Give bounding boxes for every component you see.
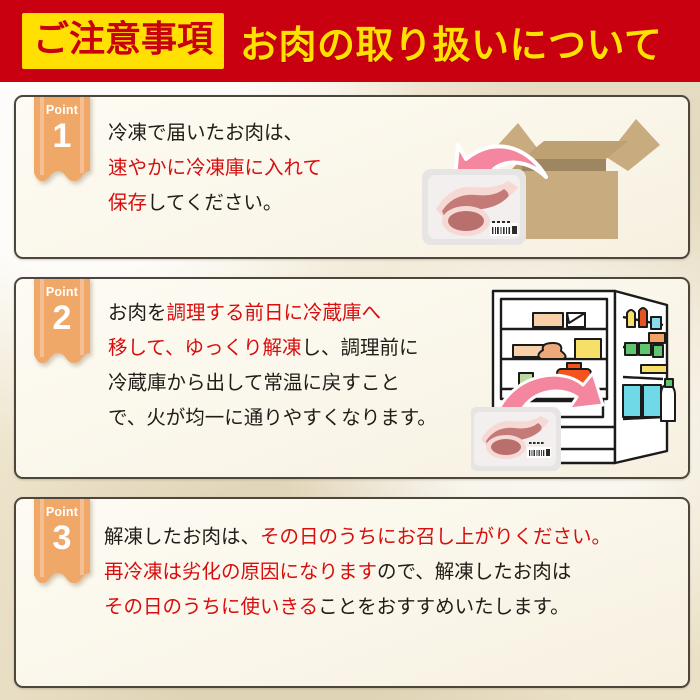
caution-badge: ご注意事項	[22, 13, 224, 69]
text-run: その日のうちにお召し上がりください。	[260, 525, 611, 548]
illustration-box-and-meat	[414, 105, 690, 255]
text-run: 保存	[108, 191, 147, 214]
meat-tray-icon	[422, 169, 526, 245]
text-run: 調理する前日に冷蔵庫へ	[167, 301, 382, 324]
meat-tray-icon	[471, 407, 561, 471]
text-run: 移して、ゆっくり解凍	[108, 336, 301, 359]
text-run: ので、解凍したお肉は	[377, 560, 571, 583]
point-3-text: 解凍したお肉は、その日のうちにお召し上がりください。 再冷凍は劣化の原因になりま…	[104, 519, 611, 624]
text-run: お肉を	[108, 301, 167, 324]
text-run: 冷凍で届いたお肉は、	[108, 121, 303, 144]
ribbon-shape-icon	[34, 497, 90, 589]
ribbon-shape-icon	[34, 277, 90, 369]
point-ribbon-2: Point 2	[34, 277, 90, 369]
point-ribbon-3: Point 3	[34, 497, 90, 589]
text-run: で、火が均一に通りやすくなります。	[108, 406, 437, 429]
text-run: その日のうちに使いきる	[104, 595, 318, 618]
text-run: 再冷凍は劣化の原因になります	[104, 560, 377, 583]
text-run: 冷蔵庫から出して常温に戻すこと	[108, 371, 400, 394]
text-run: してください。	[147, 191, 282, 214]
ribbon-shape-icon	[34, 95, 90, 187]
point-ribbon-1: Point 1	[34, 95, 90, 187]
page-title: お肉の取り扱いについて	[240, 14, 662, 69]
point-2-text: お肉を調理する前日に冷蔵庫へ 移して、ゆっくり解凍し、調理前に 冷蔵庫から出して…	[108, 295, 437, 435]
text-run: し、調理前に	[301, 336, 418, 359]
header-banner: ご注意事項 お肉の取り扱いについて	[0, 0, 700, 82]
point-card-1: Point 1 冷凍で届いたお肉は、 速やかに冷凍庫に入れて 保存してください。	[14, 95, 690, 259]
text-run: ことをおすすめいたします。	[318, 595, 570, 618]
illustration-refrigerator-and-meat	[471, 281, 690, 477]
infographic-page: ご注意事項 お肉の取り扱いについて Point 1 冷凍で届いたお肉は、 速やか…	[0, 0, 700, 700]
point-1-text: 冷凍で届いたお肉は、 速やかに冷凍庫に入れて 保存してください。	[108, 115, 322, 220]
point-card-2: Point 2 お肉を調理する前日に冷蔵庫へ 移して、ゆっくり解凍し、調理前に …	[14, 277, 690, 479]
text-run: 解凍したお肉は、	[104, 525, 260, 548]
point-card-3: Point 3 解凍したお肉は、その日のうちにお召し上がりください。 再冷凍は劣…	[14, 497, 690, 688]
text-run: 速やかに冷凍庫に入れて	[108, 156, 322, 179]
